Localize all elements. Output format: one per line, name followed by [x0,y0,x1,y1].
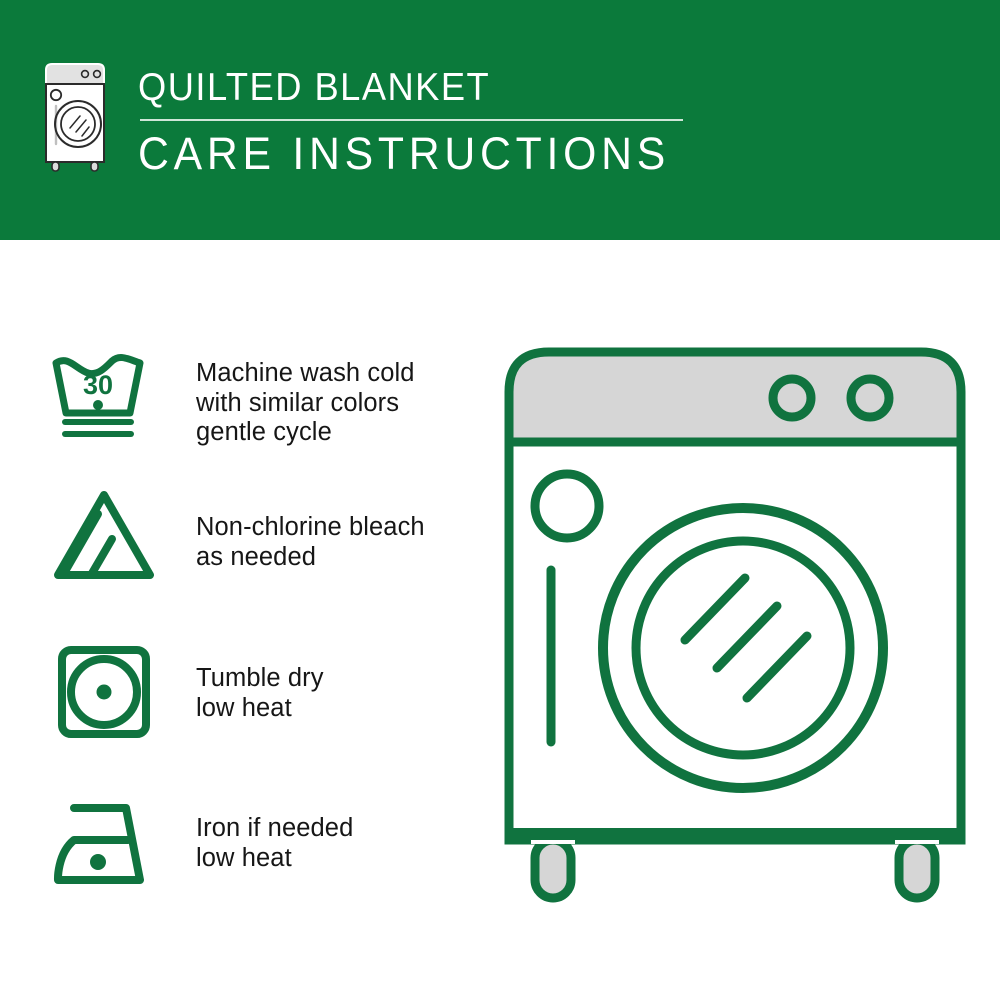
washing-machine-illustration [495,330,975,930]
care-text-line: Non-chlorine bleach [196,513,425,543]
machine-leg [899,840,935,898]
care-text-line: Iron if needed [196,814,353,844]
care-text-line: Machine wash cold [196,359,415,389]
wash-temperature-label: 30 [83,370,113,400]
title-divider [140,119,683,121]
care-text-line: Tumble dry [196,664,324,694]
header-content: QUILTED BLANKET CARE INSTRUCTIONS [42,62,698,179]
care-item-bleach: Non-chlorine bleach as needed [48,483,488,587]
care-item-tumble-dry: Tumble dry low heat [48,640,488,744]
care-item-iron: Iron if needed low heat [48,792,488,896]
machine-leg [535,840,571,898]
tumble-dry-icon [48,640,160,744]
bleach-triangle-icon [48,483,160,587]
page-title-secondary: CARE INSTRUCTIONS [138,129,670,179]
care-text-line: low heat [196,694,324,724]
washing-machine-icon [42,62,108,174]
care-item-label: Non-chlorine bleach as needed [196,483,425,572]
care-text-line: gentle cycle [196,418,415,448]
care-item-label: Tumble dry low heat [196,640,324,723]
care-item-label: Machine wash cold with similar colors ge… [196,343,415,448]
iron-icon [48,792,160,896]
care-text-line: with similar colors [196,389,415,419]
care-item-label: Iron if needed low heat [196,792,353,873]
title-block: QUILTED BLANKET CARE INSTRUCTIONS [138,62,698,179]
care-text-line: as needed [196,543,425,573]
care-text-line: low heat [196,844,353,874]
wash-tub-icon: 30 [48,343,160,447]
header-banner: QUILTED BLANKET CARE INSTRUCTIONS [0,0,1000,240]
care-instruction-list: 30 Machine wash cold with similar colors… [0,240,500,1000]
page-title-primary: QUILTED BLANKET [138,66,659,110]
care-item-machine-wash: 30 Machine wash cold with similar colors… [48,343,488,448]
